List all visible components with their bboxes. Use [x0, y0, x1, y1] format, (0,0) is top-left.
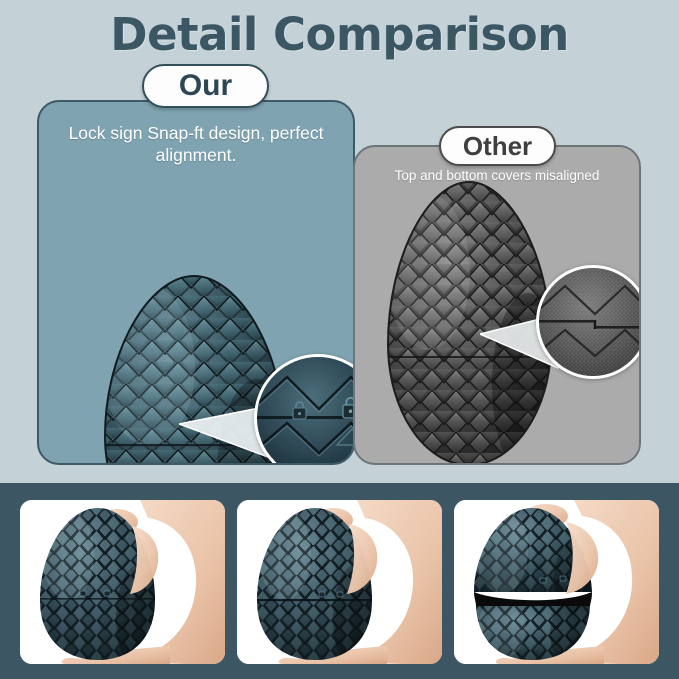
panel-our: Lock sign Snap-ft design, perfect alignm…	[37, 100, 355, 465]
badge-other-label: Other	[463, 131, 532, 162]
badge-our: Our	[142, 64, 269, 108]
hand-holding-egg-closed	[20, 500, 225, 664]
hand-holding-egg-seam-graphic	[237, 500, 442, 664]
magnified-misaligned-seam	[536, 265, 641, 379]
hand-holding-egg-closed-graphic	[20, 500, 225, 664]
caption-our: Lock sign Snap-ft design, perfect alignm…	[39, 122, 353, 167]
page-title: Detail Comparison	[0, 8, 679, 61]
caption-other: Top and bottom covers misaligned	[355, 167, 639, 184]
magnified-misaligned-seam-graphic	[539, 268, 641, 376]
photo-strip	[0, 483, 679, 679]
badge-our-label: Our	[179, 69, 232, 103]
hand-holding-egg-opening	[454, 500, 659, 664]
magnified-lock-detail-graphic	[257, 357, 355, 465]
comparison-infographic: Detail Comparison	[0, 0, 679, 679]
panel-other: Top and bottom covers misaligned	[353, 145, 641, 465]
badge-other: Other	[439, 126, 556, 166]
hand-holding-egg-opening-graphic	[454, 500, 659, 664]
hand-holding-egg-seam	[237, 500, 442, 664]
